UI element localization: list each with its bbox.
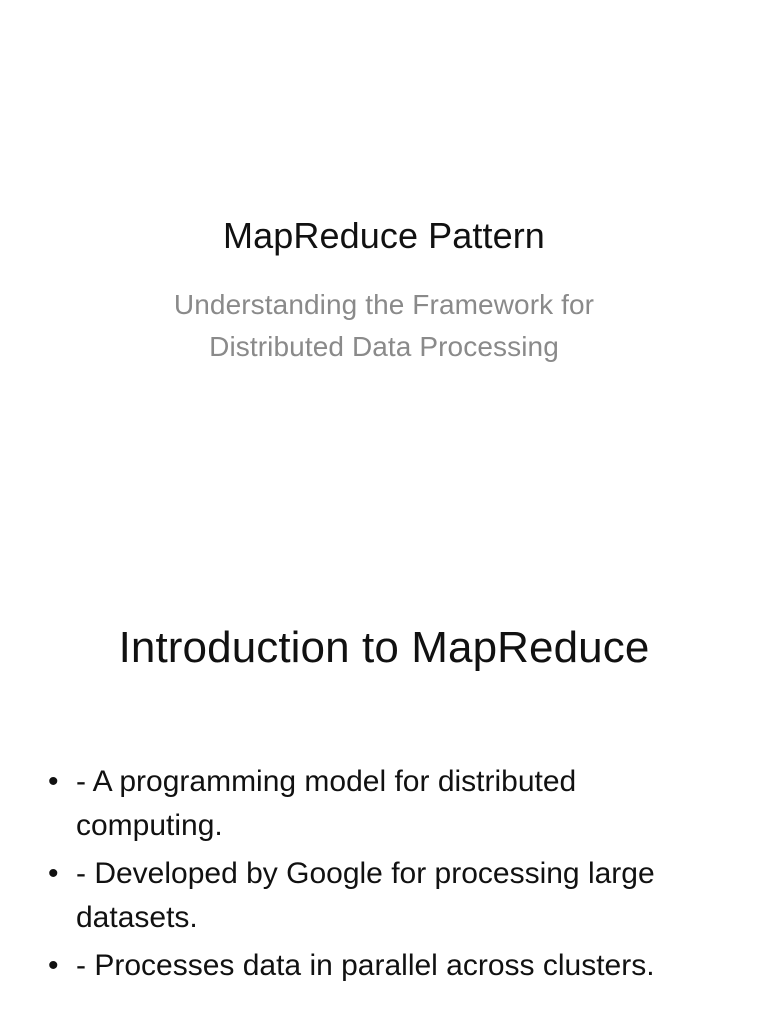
section-block: Introduction to MapReduce (0, 620, 768, 676)
list-item: • - A programming model for distributed … (40, 760, 700, 848)
subtitle-block: Understanding the Framework for Distribu… (124, 284, 644, 368)
bullet-block: • - A programming model for distributed … (40, 760, 700, 992)
list-item-label: - Processes data in parallel across clus… (76, 944, 700, 988)
page-title: MapReduce Pattern (0, 214, 768, 258)
bullet-list: • - A programming model for distributed … (40, 760, 700, 988)
bullet-dot-icon: • (48, 760, 68, 804)
slide-page: MapReduce Pattern Understanding the Fram… (0, 0, 768, 1024)
subtitle-line-1: Understanding the Framework for (124, 284, 644, 326)
section-heading: Introduction to MapReduce (0, 620, 768, 676)
subtitle-line-2: Distributed Data Processing (124, 326, 644, 368)
bullet-dot-icon: • (48, 944, 68, 988)
list-item-label: - Developed by Google for processing lar… (76, 852, 700, 940)
list-item: • - Processes data in parallel across cl… (40, 944, 700, 988)
list-item: • - Developed by Google for processing l… (40, 852, 700, 940)
title-block: MapReduce Pattern Understanding the Fram… (0, 214, 768, 368)
bullet-dot-icon: • (48, 852, 68, 896)
list-item-label: - A programming model for distributed co… (76, 760, 700, 848)
